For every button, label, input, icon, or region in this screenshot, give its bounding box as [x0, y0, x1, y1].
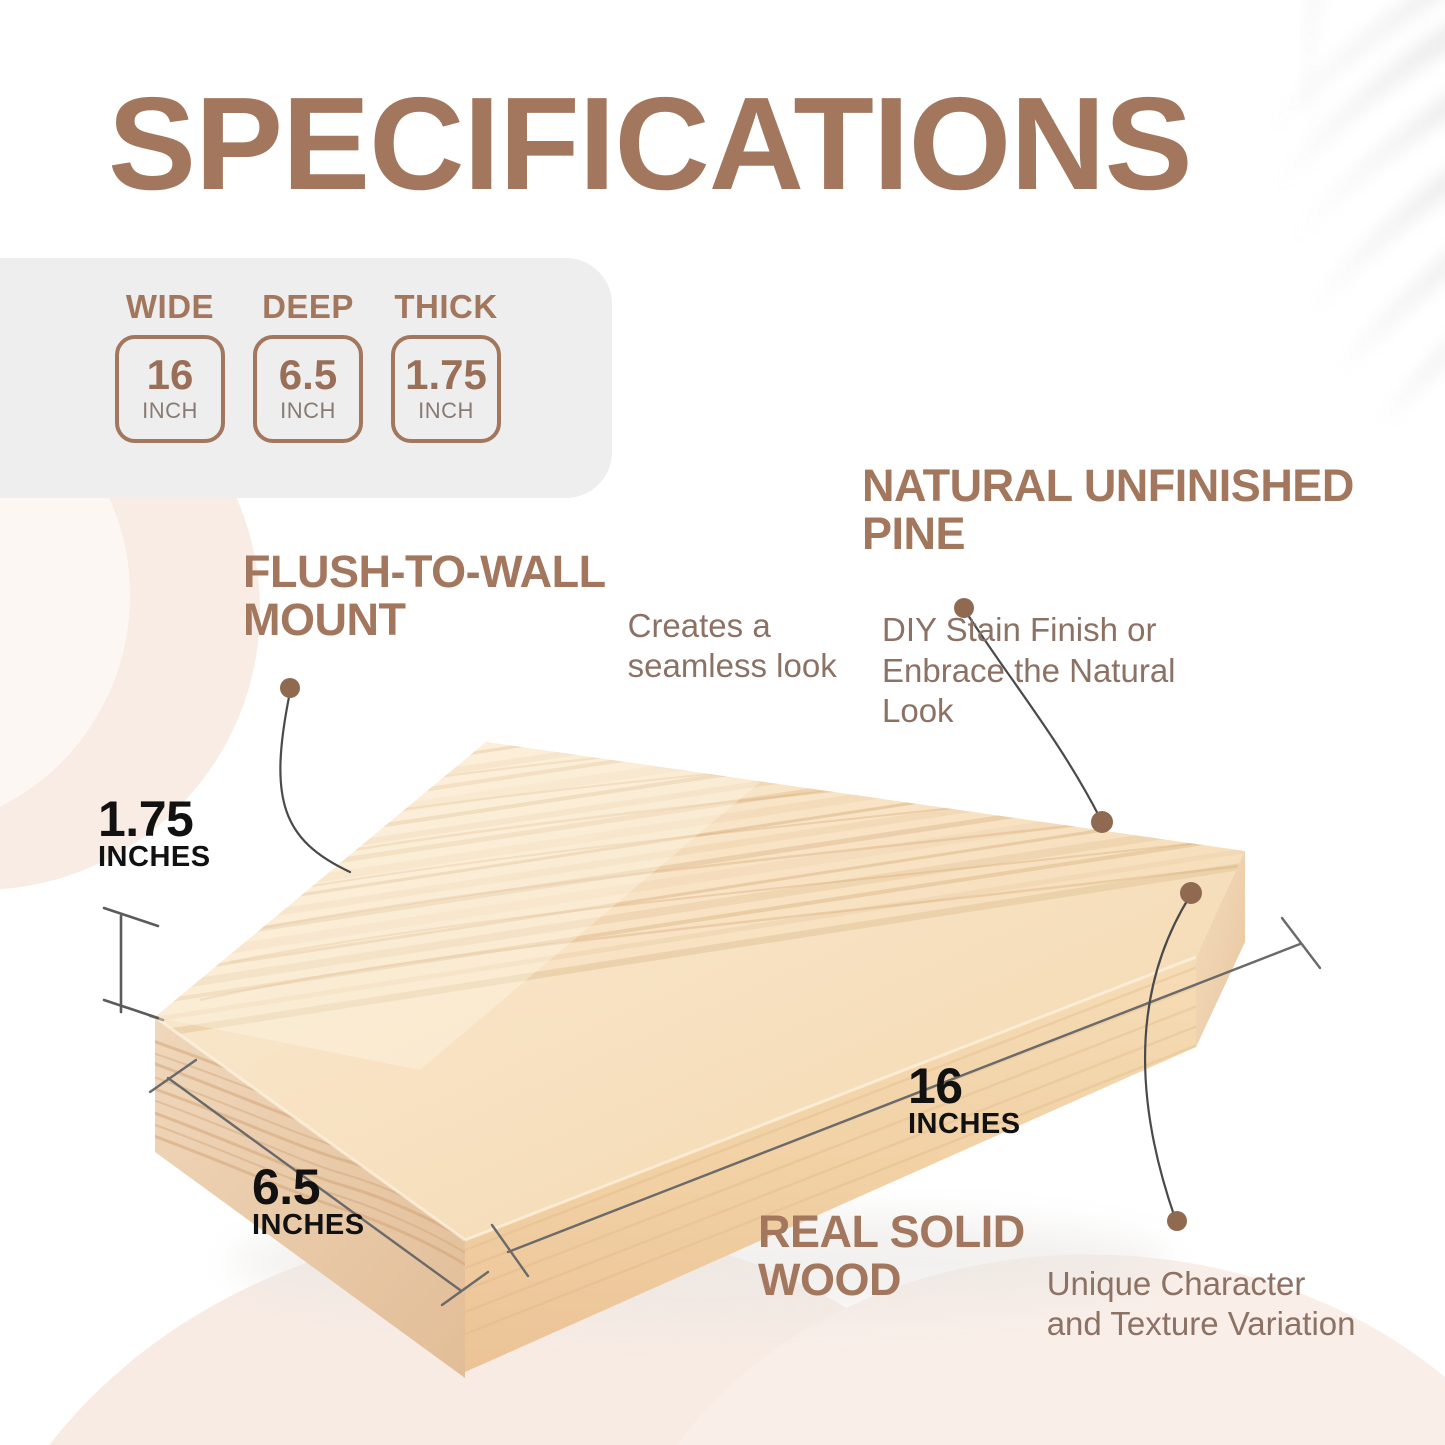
dimension-value-thickness: 1.75 [98, 795, 211, 843]
callout-real-solid-wood: REAL SOLID WOODUnique Character and Text… [758, 1208, 1356, 1345]
spec-items-row: WIDE 16 INCH DEEP 6.5 INCH THICK 1.75 IN… [115, 288, 501, 443]
dimension-unit-depth: INCHES [252, 1211, 365, 1240]
spec-unit-deep: INCH [280, 398, 336, 424]
callout-dot-pine-target [1091, 811, 1113, 833]
callout-dot-wood-target [1180, 882, 1202, 904]
spec-value-deep: 6.5 [279, 354, 337, 396]
spec-unit-wide: INCH [142, 398, 198, 424]
dimension-value-depth: 6.5 [252, 1163, 365, 1211]
spec-item-thick: THICK 1.75 INCH [391, 288, 501, 443]
infographic-canvas: SPECIFICATIONS WIDE 16 INCH DEEP 6.5 INC… [0, 0, 1445, 1445]
callout-heading-flush: FLUSH-TO-WALL MOUNT [243, 548, 606, 643]
spec-unit-thick: INCH [418, 398, 474, 424]
callout-heading-wood: REAL SOLID WOOD [758, 1208, 1025, 1303]
spec-label-wide: WIDE [115, 288, 225, 326]
callout-body-pine: DIY Stain Finish or Enbrace the Natural … [882, 610, 1176, 731]
spec-box-thick: 1.75 INCH [391, 335, 501, 443]
spec-value-thick: 1.75 [405, 354, 487, 396]
spec-box-wide: 16 INCH [115, 335, 225, 443]
dimension-label-thickness: 1.75 INCHES [98, 795, 211, 872]
dimension-unit-width: INCHES [908, 1110, 1021, 1139]
spec-label-deep: DEEP [253, 288, 363, 326]
callout-body-flush: Creates a seamless look [628, 606, 837, 687]
page-title: SPECIFICATIONS [108, 78, 1192, 210]
spec-item-deep: DEEP 6.5 INCH [253, 288, 363, 443]
dimension-value-width: 16 [908, 1062, 1021, 1110]
callout-body-wood: Unique Character and Texture Variation [1047, 1264, 1356, 1345]
spec-summary-panel: WIDE 16 INCH DEEP 6.5 INCH THICK 1.75 IN… [0, 258, 612, 498]
callout-heading-pine: NATURAL UNFINISHED PINE [862, 462, 1354, 557]
spec-item-wide: WIDE 16 INCH [115, 288, 225, 443]
dimension-label-width: 16 INCHES [908, 1062, 1021, 1139]
callout-flush-to-wall-mount: FLUSH-TO-WALL MOUNTCreates a seamless lo… [243, 548, 837, 687]
dimension-label-depth: 6.5 INCHES [252, 1163, 365, 1240]
spec-label-thick: THICK [391, 288, 501, 326]
spec-value-wide: 16 [147, 354, 194, 396]
spec-box-deep: 6.5 INCH [253, 335, 363, 443]
callout-natural-unfinished-pine: NATURAL UNFINISHED PINEDIY Stain Finish … [862, 462, 1432, 731]
dimension-unit-thickness: INCHES [98, 843, 211, 872]
